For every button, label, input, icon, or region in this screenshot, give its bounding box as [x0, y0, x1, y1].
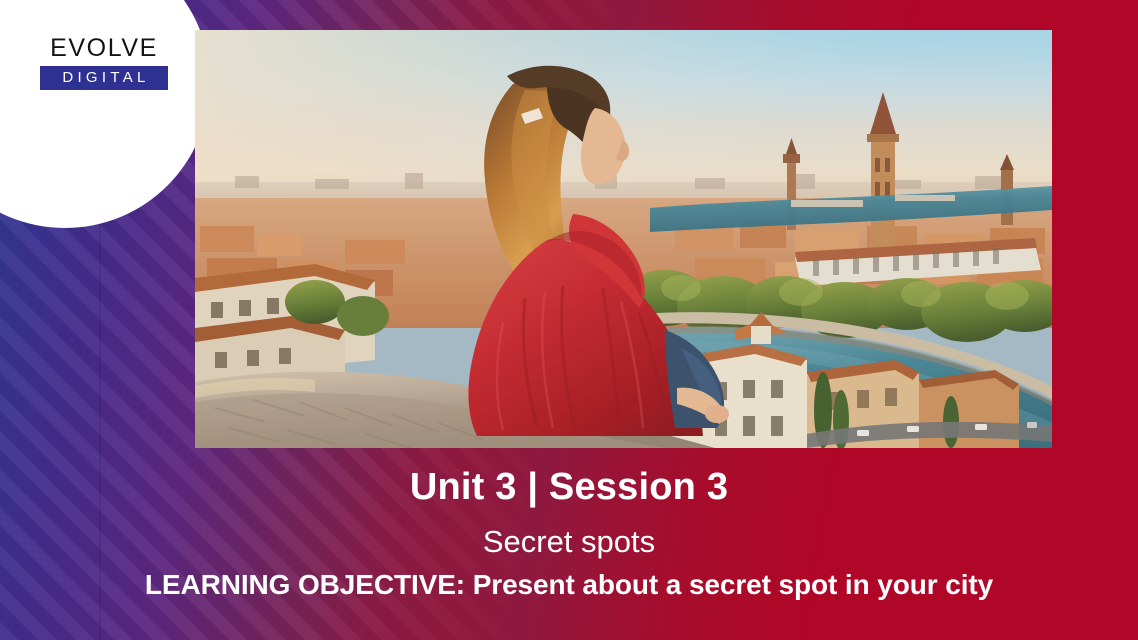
presentation-slide: EVOLVE DIGITAL — [0, 0, 1138, 640]
background-vertical-seam — [99, 160, 101, 640]
hero-photo — [195, 30, 1052, 448]
logo-digital-box: DIGITAL — [40, 66, 168, 90]
brand-logo: EVOLVE DIGITAL — [40, 36, 168, 90]
page-subtitle: Secret spots — [0, 524, 1138, 560]
page-title: Unit 3 | Session 3 — [0, 466, 1138, 509]
learning-objective: LEARNING OBJECTIVE: Present about a secr… — [0, 569, 1138, 601]
logo-digital-text: DIGITAL — [43, 70, 165, 85]
hero-photo-illustration — [195, 30, 1052, 448]
logo-evolve-text: EVOLVE — [40, 36, 168, 61]
